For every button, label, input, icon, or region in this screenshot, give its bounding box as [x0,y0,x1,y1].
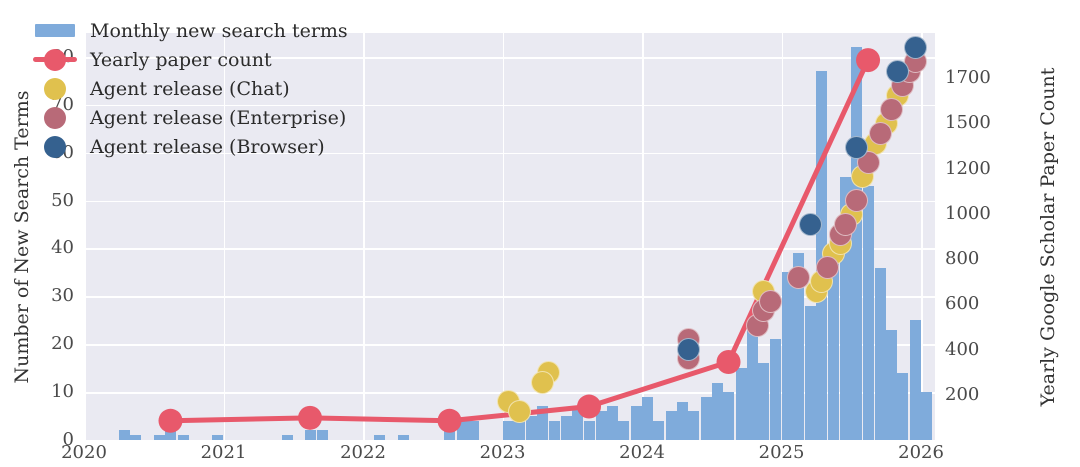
legend-dot-swatch [44,78,66,100]
legend-dot-swatch [44,136,66,158]
x-tick-label: 2026 [898,444,944,462]
line-marker [158,409,182,433]
legend-item: Monthly new search terms [32,16,348,45]
y-tick-label: 10 [46,383,74,401]
x-tick-label: 2020 [61,444,107,462]
y2-tick-label: 200 [945,386,979,404]
scatter-point [508,400,531,423]
x-tick-label: 2024 [619,444,665,462]
legend-label: Agent release (Browser) [90,136,325,158]
y-tick-label: 30 [46,287,74,305]
y2-tick-label: 400 [945,341,979,359]
legend-label: Monthly new search terms [90,20,348,42]
scatter-point [869,122,892,145]
legend-line-swatch [33,57,77,62]
y2-tick-label: 600 [945,295,979,313]
y-tick-label: 50 [46,192,74,210]
y-tick-label: 40 [46,239,74,257]
legend-bar-swatch [35,24,75,37]
legend-key-bar [32,24,78,37]
line-marker [438,409,462,433]
legend-dot-swatch [44,107,66,129]
legend-item: Agent release (Chat) [32,74,348,103]
legend-label: Agent release (Enterprise) [90,107,346,129]
scatter-point [677,338,700,361]
y2-tick-label: 1000 [945,205,991,223]
legend-key-dot [32,107,78,129]
legend-key-line [32,57,78,62]
scatter-point [886,60,909,83]
legend-item: Agent release (Enterprise) [32,103,348,132]
x-tick-label: 2022 [340,444,386,462]
line-marker [298,406,322,430]
y2-tick-label: 1500 [945,114,991,132]
line-marker [856,48,880,72]
scatter-point [759,290,782,313]
figure: 01020304050607080 2004006008001000120015… [0,0,1080,467]
y2-tick-label: 1700 [945,69,991,87]
y-tick-label: 20 [46,335,74,353]
y2-tick-label: 1200 [945,160,991,178]
x-tick-label: 2025 [759,444,805,462]
x-tick-label: 2021 [201,444,247,462]
legend-label: Agent release (Chat) [90,78,290,100]
legend-key-dot [32,78,78,100]
y-axis-right-label: Yearly Google Scholar Paper Count [1037,67,1059,406]
x-tick-label: 2023 [480,444,526,462]
line-marker [577,395,601,419]
legend-item: Agent release (Browser) [32,132,348,161]
scatter-point [904,36,927,59]
legend-item: Yearly paper count [32,45,348,74]
scatter-point [787,266,810,289]
legend-label: Yearly paper count [90,49,272,71]
line-marker [717,350,741,374]
legend: Monthly new search termsYearly paper cou… [24,12,356,165]
legend-key-dot [32,136,78,158]
y2-tick-label: 800 [945,250,979,268]
